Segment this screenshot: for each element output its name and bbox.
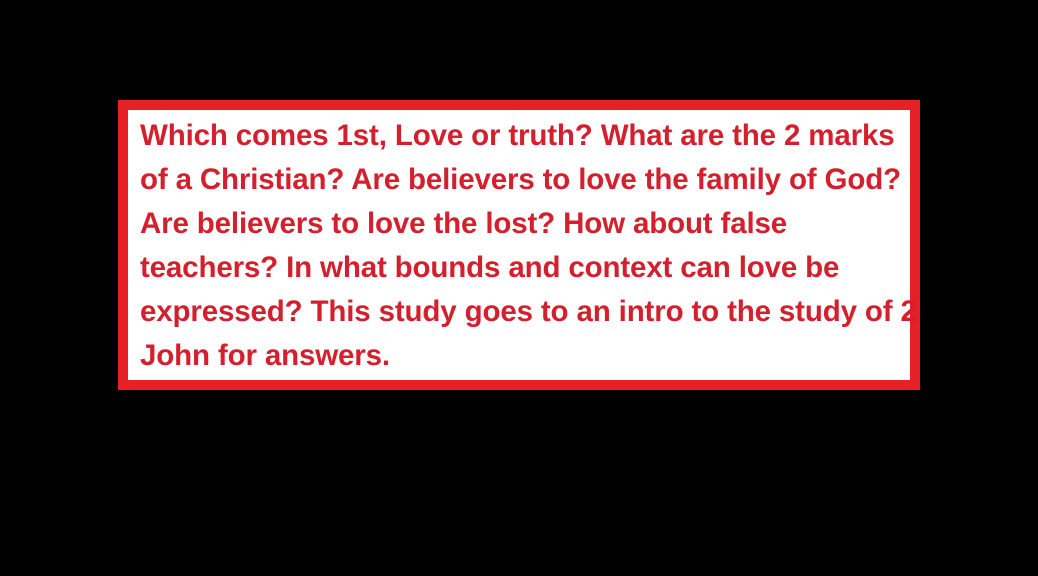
promo-body-text: Which comes 1st, Love or truth? What are… [140, 114, 918, 378]
slide-canvas: Which comes 1st, Love or truth? What are… [0, 0, 1038, 576]
promo-card: Which comes 1st, Love or truth? What are… [118, 100, 920, 390]
